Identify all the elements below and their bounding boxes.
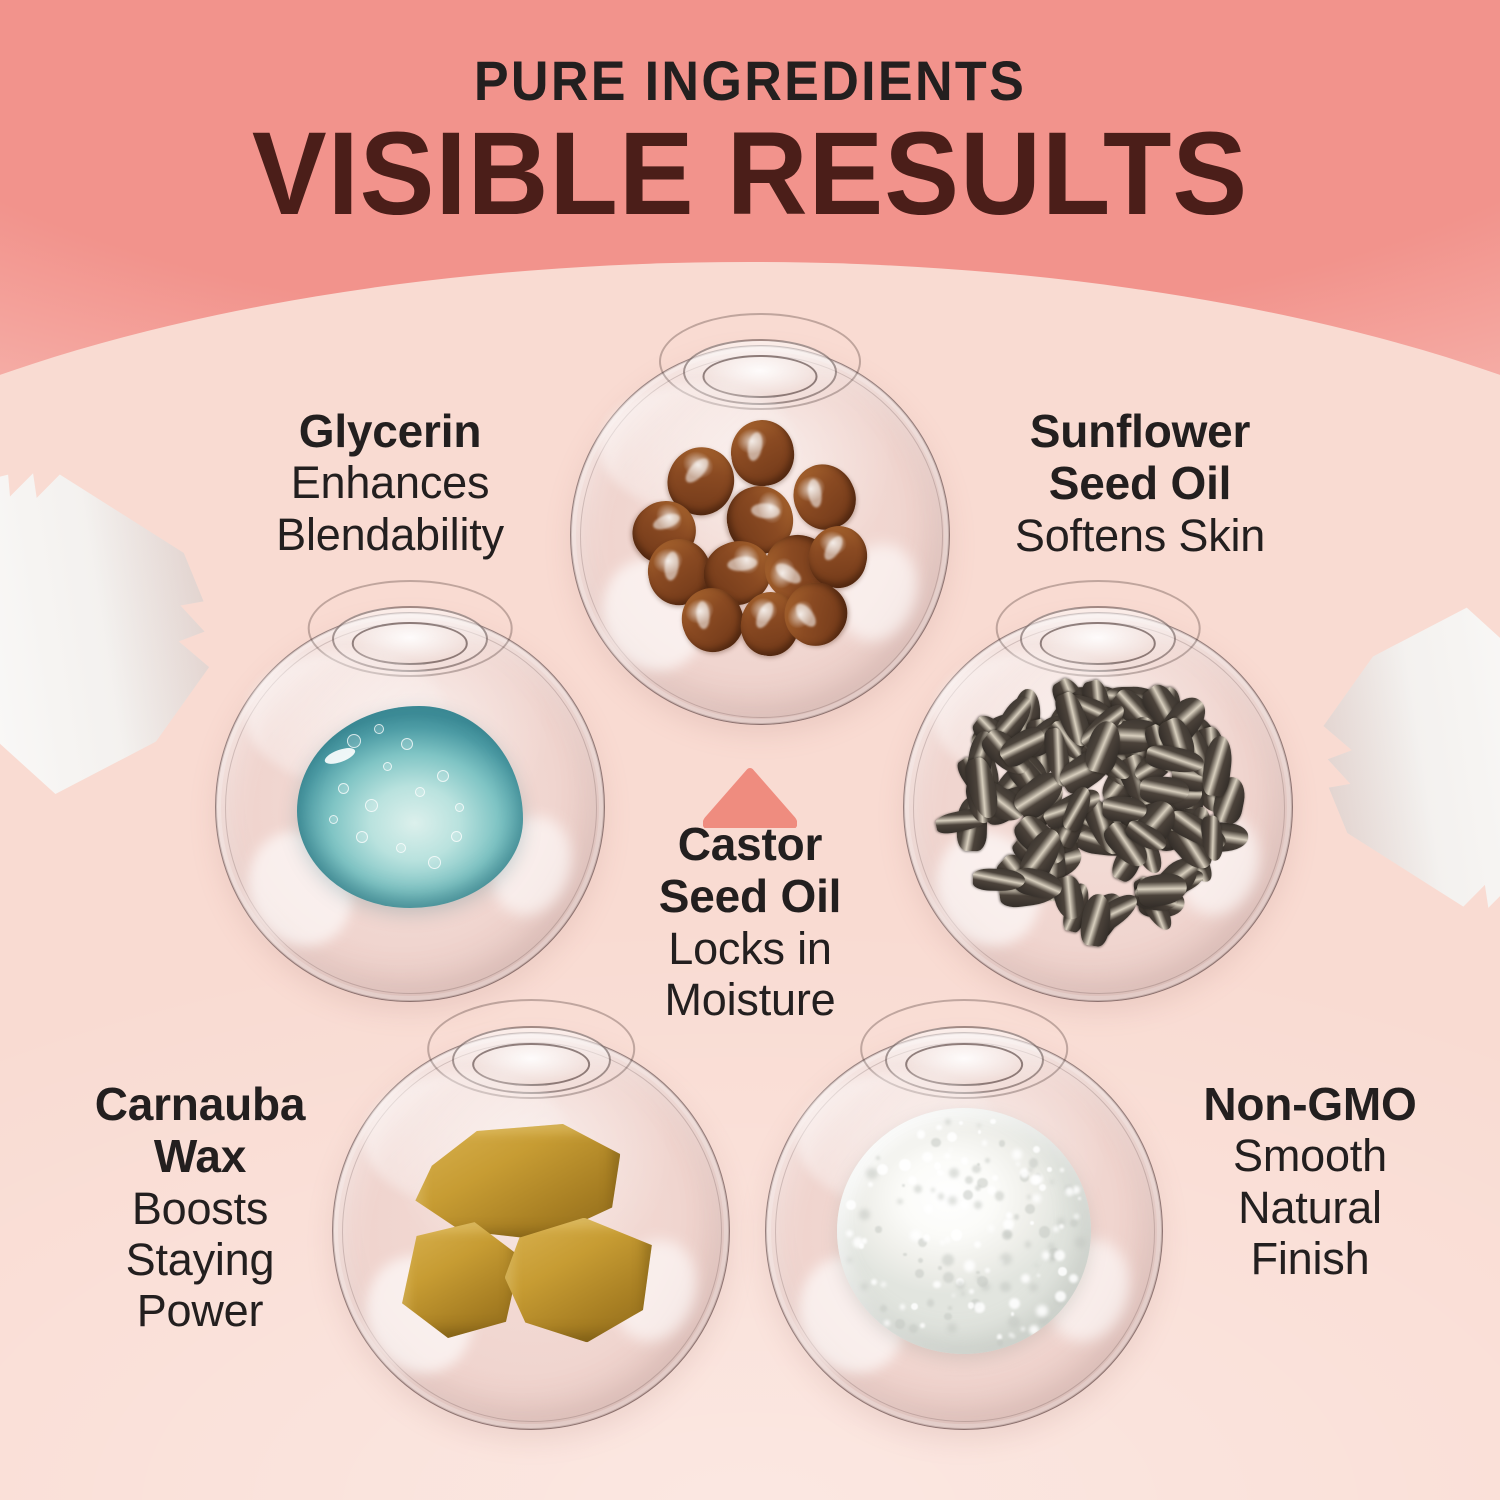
powder-grain xyxy=(974,1241,981,1248)
powder-grain xyxy=(1047,1167,1052,1172)
ingredient-label-carnauba-wax: Carnauba Wax Boosts Staying Power xyxy=(35,1078,365,1337)
powder-grain xyxy=(960,1200,970,1210)
powder-grain xyxy=(963,1190,973,1200)
powder-grain xyxy=(975,1185,981,1191)
powder-grain xyxy=(931,1188,936,1193)
powder-grain xyxy=(934,1162,941,1169)
powder-grain xyxy=(1000,1282,1010,1292)
castor-seed-cluster xyxy=(638,425,881,645)
powder-grain xyxy=(1030,1175,1040,1185)
ingredient-label-sunflower-seed-oil: Sunflower Seed Oil Softens Skin xyxy=(955,405,1325,561)
powder-grain xyxy=(985,1158,991,1164)
powder-grain xyxy=(951,1229,962,1240)
powder-grain xyxy=(868,1182,873,1187)
bubble-contents-carnauba-wax xyxy=(332,1032,730,1430)
powder-grain xyxy=(944,1153,950,1159)
powder-grain xyxy=(974,1302,985,1313)
powder-grain xyxy=(952,1294,955,1297)
ingredient-benefit-line: Finish xyxy=(1150,1233,1470,1284)
header-text-group: PURE INGREDIENTS VISIBLE RESULTS xyxy=(0,0,1500,233)
powder-grain xyxy=(1029,1158,1039,1168)
powder-grain xyxy=(1074,1214,1079,1219)
powder-grain xyxy=(940,1240,945,1245)
powder-grain xyxy=(846,1230,853,1237)
wax-chunk xyxy=(400,1222,521,1338)
powder-grain xyxy=(880,1305,887,1312)
glycerin-gel-blob xyxy=(297,706,523,909)
wax-chunk-group xyxy=(400,1120,663,1343)
powder-grain xyxy=(846,1200,855,1209)
powder-grain xyxy=(877,1164,888,1175)
ingredient-title-line: Sunflower xyxy=(955,405,1325,457)
gel-bubble xyxy=(347,734,361,748)
powder-grain xyxy=(909,1324,918,1333)
powder-grain xyxy=(981,1282,990,1291)
gel-bubble xyxy=(451,831,462,842)
powder-grain xyxy=(988,1225,995,1232)
powder-grain xyxy=(902,1184,906,1188)
bubble-contents-glycerin-gel xyxy=(215,612,605,1002)
powder-grain xyxy=(938,1193,945,1200)
ingredient-bubble-glycerin[interactable] xyxy=(215,612,605,1002)
powder-grain xyxy=(992,1175,998,1181)
powder-grain xyxy=(974,1201,982,1209)
powder-grain xyxy=(1012,1335,1015,1338)
powder-grain xyxy=(1037,1274,1040,1277)
ingredient-title-line: Carnauba xyxy=(35,1078,365,1130)
powder-grain xyxy=(1025,1241,1032,1248)
powder-grain xyxy=(1011,1312,1014,1315)
powder-grain xyxy=(1032,1194,1041,1203)
powder-grain xyxy=(897,1199,903,1205)
ingredient-bubble-carnauba-wax[interactable] xyxy=(332,1032,730,1430)
ingredient-benefit-line: Blendability xyxy=(200,509,580,560)
powder-grain xyxy=(995,1191,1005,1201)
ingredient-benefit-line: Boosts xyxy=(35,1183,365,1234)
powder-grain xyxy=(866,1168,877,1179)
powder-grain xyxy=(917,1130,925,1138)
powder-grain xyxy=(847,1258,851,1262)
ingredient-title-line: Castor xyxy=(590,818,910,870)
powder-grain xyxy=(922,1152,933,1163)
powder-grain xyxy=(976,1271,979,1274)
ingredient-benefit-line: Smooth xyxy=(1150,1130,1470,1181)
powder-grain xyxy=(947,1323,957,1333)
ingredient-bubble-sunflower-seed-oil[interactable] xyxy=(903,612,1293,1002)
powder-grain xyxy=(859,1209,870,1220)
gel-bubble xyxy=(383,762,392,771)
powder-grain xyxy=(1070,1219,1078,1227)
powder-grain xyxy=(949,1148,952,1151)
powder-grain xyxy=(933,1281,940,1288)
powder-grain xyxy=(1075,1237,1086,1248)
ingredient-title-line: Seed Oil xyxy=(955,457,1325,509)
powder-grain xyxy=(861,1283,868,1290)
powder-grain xyxy=(985,1268,990,1273)
powder-grain xyxy=(1030,1221,1034,1225)
sunflower-seed-pile xyxy=(954,674,1243,939)
powder-grain xyxy=(965,1176,973,1184)
wax-chunk xyxy=(505,1218,652,1343)
powder-grain xyxy=(924,1204,933,1213)
powder-grain xyxy=(968,1302,975,1309)
ingredient-label-glycerin: Glycerin Enhances Blendability xyxy=(200,405,580,560)
powder-grain xyxy=(876,1156,880,1160)
powder-grain xyxy=(1078,1197,1081,1200)
powder-grain xyxy=(982,1140,988,1146)
powder-grain xyxy=(977,1163,980,1166)
powder-grain xyxy=(944,1313,951,1320)
powder-grain xyxy=(1006,1212,1013,1219)
powder-grain xyxy=(1049,1258,1053,1262)
powder-grain xyxy=(1060,1168,1064,1172)
powder-grain xyxy=(875,1226,881,1232)
ingredient-title-non-gmo: Non-GMO xyxy=(1150,1078,1470,1130)
powder-grain xyxy=(945,1237,951,1243)
powder-grain xyxy=(1008,1316,1020,1328)
ingredient-benefit-line: Enhances xyxy=(200,457,580,508)
powder-grain xyxy=(1028,1168,1032,1172)
ingredient-bubble-castor-seed-oil[interactable] xyxy=(570,345,950,725)
gel-bubble xyxy=(428,856,441,869)
powder-grain xyxy=(961,1291,965,1295)
page-title: VISIBLE RESULTS xyxy=(38,109,1463,233)
powder-grain xyxy=(884,1320,890,1326)
gel-bubble xyxy=(365,799,378,812)
ingredient-label-castor-seed-oil: Castor Seed Oil Locks in Moisture xyxy=(590,818,910,1025)
powder-grain xyxy=(1027,1195,1031,1199)
gel-bubble xyxy=(396,843,406,853)
ingredient-label-non-gmo: Non-GMO Smooth Natural Finish xyxy=(1150,1078,1470,1284)
powder-grain xyxy=(1000,1260,1003,1263)
powder-grain xyxy=(923,1234,931,1242)
gel-bubble xyxy=(338,783,349,794)
bubble-contents-white-powder xyxy=(765,1032,1163,1430)
gel-bubble xyxy=(374,724,384,734)
powder-grain xyxy=(895,1319,905,1329)
powder-grain xyxy=(1050,1180,1054,1184)
powder-grain xyxy=(938,1266,942,1270)
ingredient-benefit-line: Natural xyxy=(1150,1182,1470,1233)
powder-grain xyxy=(1036,1305,1048,1317)
powder-grain xyxy=(1012,1149,1023,1160)
powder-grain xyxy=(859,1243,865,1249)
powder-grain xyxy=(918,1258,923,1263)
powder-grain xyxy=(1058,1267,1066,1275)
powder-grain xyxy=(945,1119,951,1125)
powder-grain xyxy=(1021,1274,1030,1283)
powder-grain xyxy=(1054,1250,1065,1261)
header-kicker: PURE INGREDIENTS xyxy=(53,0,1448,109)
powder-grain xyxy=(947,1132,957,1142)
powder-grain xyxy=(1053,1226,1059,1232)
gel-bubble xyxy=(329,815,338,824)
ingredient-title-line: Seed Oil xyxy=(590,870,910,922)
gel-bubble xyxy=(415,787,425,797)
powder-grain xyxy=(1016,1162,1020,1166)
powder-grain xyxy=(908,1176,917,1185)
powder-grain xyxy=(915,1269,924,1278)
powder-grain xyxy=(1014,1214,1019,1219)
powder-grain xyxy=(1029,1325,1039,1335)
powder-grain xyxy=(969,1289,974,1294)
powder-grain xyxy=(871,1279,877,1285)
powder-grain xyxy=(948,1306,952,1310)
powder-grain xyxy=(1021,1327,1025,1331)
ingredient-bubble-non-gmo[interactable] xyxy=(765,1032,1163,1430)
powder-grain xyxy=(1029,1283,1038,1292)
ingredient-title-line: Wax xyxy=(35,1130,365,1182)
ingredient-benefit-line: Softens Skin xyxy=(955,510,1325,561)
powder-grain xyxy=(1055,1291,1066,1302)
gel-bubble xyxy=(437,770,449,782)
infographic-canvas: PURE INGREDIENTS VISIBLE RESULTS xyxy=(0,0,1500,1500)
ingredient-benefit-line: Staying xyxy=(35,1234,365,1285)
powder-grain xyxy=(1069,1274,1078,1283)
powder-grain xyxy=(942,1254,954,1266)
powder-grain xyxy=(937,1170,943,1176)
white-powder-mound xyxy=(837,1108,1092,1355)
powder-grain xyxy=(948,1196,957,1205)
powder-grain xyxy=(1025,1204,1035,1214)
powder-grain xyxy=(927,1299,935,1307)
sunflower-seed xyxy=(1140,776,1190,805)
powder-grain xyxy=(999,1140,1005,1146)
gel-bubble xyxy=(356,831,368,843)
ingredient-benefit-line: Locks in xyxy=(590,923,910,974)
powder-grain xyxy=(1039,1184,1047,1192)
powder-grain xyxy=(936,1125,942,1131)
gel-bubble xyxy=(455,803,464,812)
powder-grain xyxy=(1065,1187,1074,1196)
powder-grain xyxy=(959,1121,963,1125)
powder-grain xyxy=(943,1272,954,1283)
gel-glint xyxy=(323,745,357,767)
ingredient-benefit-line: Moisture xyxy=(590,974,910,1025)
powder-grain xyxy=(911,1303,918,1310)
powder-grain xyxy=(961,1157,969,1165)
ingredient-title-glycerin: Glycerin xyxy=(200,405,580,457)
powder-grain xyxy=(931,1138,941,1148)
powder-grain xyxy=(949,1168,959,1178)
gel-bubble xyxy=(401,738,413,750)
ingredient-benefit-line: Power xyxy=(35,1285,365,1336)
powder-grain xyxy=(914,1185,922,1193)
castor-seed xyxy=(783,454,867,540)
powder-grain xyxy=(1059,1224,1064,1229)
bubble-contents-castor-seeds xyxy=(570,345,950,725)
powder-grain xyxy=(920,1323,925,1328)
powder-grain xyxy=(997,1339,1003,1345)
powder-grain xyxy=(977,1124,981,1128)
powder-grain xyxy=(990,1119,996,1125)
powder-grain xyxy=(900,1304,905,1309)
powder-grain xyxy=(899,1159,910,1170)
powder-grain xyxy=(1009,1298,1020,1309)
powder-grain xyxy=(903,1253,906,1256)
powder-grain xyxy=(881,1282,886,1287)
powder-grain xyxy=(964,1260,975,1271)
powder-grain xyxy=(1039,1226,1051,1238)
powder-grain xyxy=(978,1130,981,1133)
bubble-contents-sunflower-seeds xyxy=(903,612,1293,1002)
castor-seed xyxy=(727,416,799,490)
powder-grain xyxy=(1035,1264,1038,1267)
powder-grain xyxy=(956,1281,965,1290)
powder-grain xyxy=(1033,1146,1040,1153)
